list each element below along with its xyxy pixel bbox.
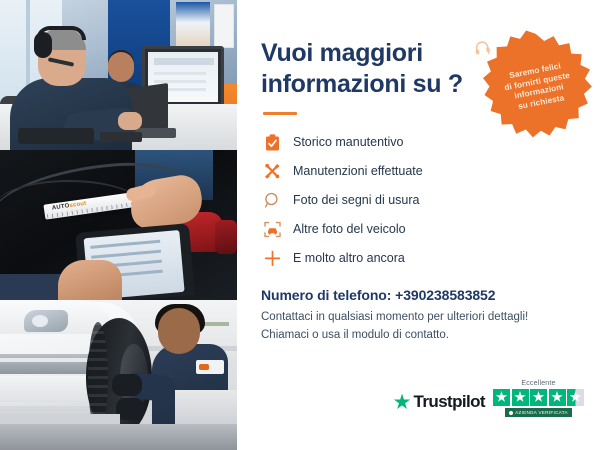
list-item-label: E molto altro ancora	[293, 251, 405, 265]
verified-business-badge: AZIENDA VERIFICATA	[505, 408, 572, 417]
headline-line-1: Vuoi maggiori	[261, 39, 423, 67]
trustpilot-star-row	[493, 389, 584, 406]
star-filled	[493, 389, 510, 406]
list-item: Foto dei segni di usura	[261, 187, 580, 213]
worker-1-hand	[118, 112, 142, 130]
inspector-hand-lower	[58, 260, 122, 300]
car-inspection-photo: AUTOscout	[0, 150, 237, 300]
keyboard	[18, 128, 94, 144]
callout-badge: Saremo felici di fornirti queste informa…	[482, 30, 594, 142]
phone-line: Numero di telefono: +390238583852	[261, 287, 580, 303]
trustpilot-rating-label: Eccellente	[521, 380, 555, 387]
star-filled	[512, 389, 529, 406]
content-panel: Vuoi maggiori informazioni su ? Storico …	[237, 0, 600, 450]
mechanic-glove-upper	[112, 374, 142, 396]
list-item: Altre foto del veicolo	[261, 216, 580, 242]
star-filled	[549, 389, 566, 406]
screen-toolbar	[154, 58, 214, 65]
screen-row	[154, 80, 206, 83]
headset-earcup	[34, 32, 52, 58]
lift-platform-upper	[0, 414, 120, 424]
uniform-logo-patch	[196, 360, 224, 374]
trustpilot-widget[interactable]: Trustpilot Eccellente AZIENDA VERIFICATA	[394, 380, 584, 418]
phone-number[interactable]: +390238583852	[395, 287, 495, 303]
trustpilot-brand-label: Trustpilot	[414, 392, 485, 412]
star-filled	[530, 389, 547, 406]
contact-block: Numero di telefono: +390238583852 Contat…	[261, 287, 580, 345]
mousepad	[100, 132, 142, 142]
tablet-row	[90, 240, 160, 249]
verified-badge-label: AZIENDA VERIFICATA	[515, 410, 568, 415]
worker-2-head	[108, 52, 134, 82]
promo-card: AUTOscout	[0, 0, 600, 450]
list-item: E molto altro ancora	[261, 245, 580, 271]
call-center-photo	[0, 0, 237, 150]
photo-column: AUTOscout	[0, 0, 237, 450]
clipboard-check-icon	[261, 132, 283, 152]
lift-platform	[0, 424, 237, 450]
list-item-label: Manutenzioni effettuate	[293, 164, 423, 178]
trustpilot-rating: Eccellente AZIENDA VERIFICATA	[493, 380, 584, 418]
plus-icon	[261, 248, 283, 268]
phone-label: Numero di telefono:	[261, 287, 391, 303]
mechanic-head	[158, 308, 200, 354]
tool-cabinet	[175, 390, 237, 424]
trustpilot-star-icon	[394, 394, 411, 411]
contact-subtext-line-2: Chiamaci o usa il modulo di contatto.	[261, 329, 449, 341]
feature-list: Storico manutentivo Manutenzioni effettu…	[261, 129, 580, 271]
list-item-label: Altre foto del veicolo	[293, 222, 406, 236]
mechanic-glove-lower	[116, 398, 144, 420]
list-item-label: Foto dei segni di usura	[293, 193, 419, 207]
contact-subtext: Contattaci in qualsiasi momento per ulte…	[261, 309, 580, 345]
screen-row	[154, 72, 206, 75]
magnifier-icon	[261, 190, 283, 210]
list-item-label: Storico manutentivo	[293, 135, 403, 149]
wall-poster-2	[214, 4, 234, 48]
scan-car-icon	[261, 219, 283, 239]
list-item: Manutenzioni effettuate	[261, 158, 580, 184]
tools-cross-icon	[261, 161, 283, 181]
chrome-trim	[0, 358, 94, 362]
headlight	[24, 310, 68, 332]
contact-subtext-line-1: Contattaci in qualsiasi momento per ulte…	[261, 311, 528, 323]
callout-badge-text: Saremo felici di fornirti queste informa…	[502, 60, 575, 114]
title-underline	[263, 112, 297, 115]
star-half	[567, 389, 584, 406]
tail-light-2	[215, 220, 237, 254]
trustpilot-logo: Trustpilot	[394, 392, 485, 417]
tablet-row	[91, 250, 161, 259]
headline-line-2: informazioni su ?	[261, 70, 463, 98]
callout-badge-content: Saremo felici di fornirti queste informa…	[472, 20, 600, 151]
mechanic-wheel-photo	[0, 300, 237, 450]
verified-check-icon	[509, 411, 513, 415]
